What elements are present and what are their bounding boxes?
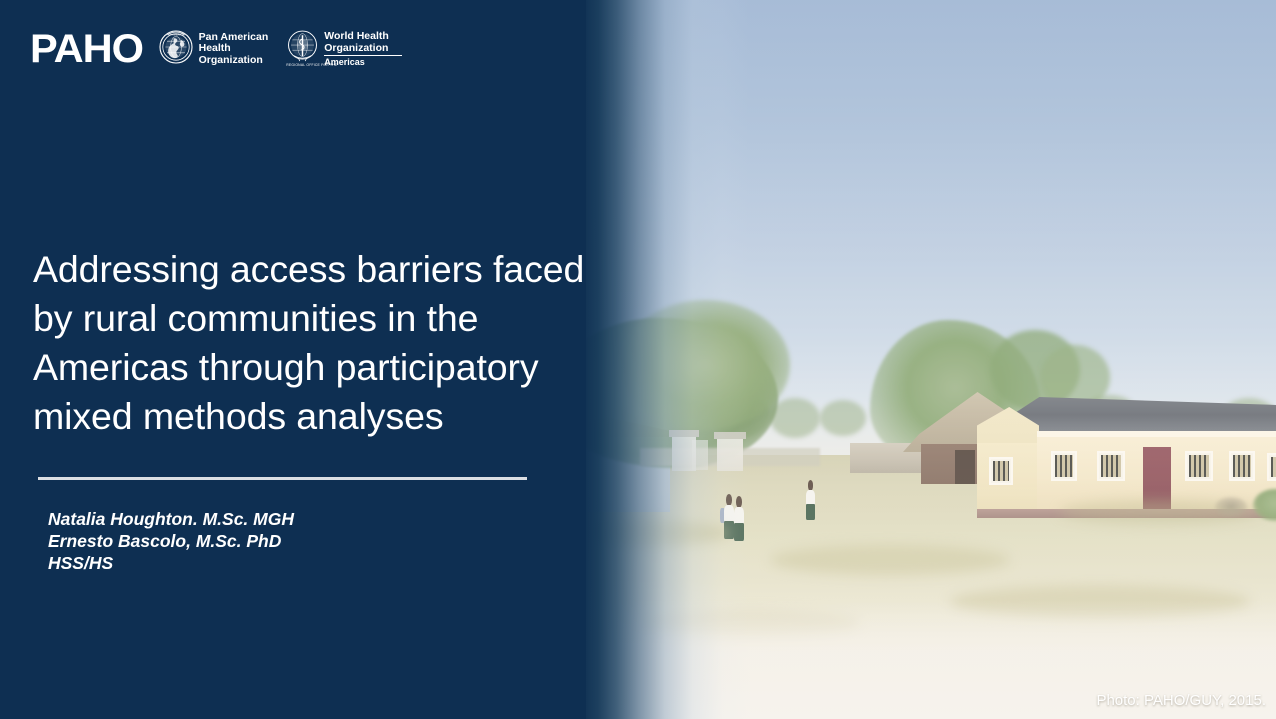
school-window <box>1051 451 1077 481</box>
child-walking <box>806 490 815 520</box>
paho-globe-emblem-icon: PAN AMERICAN <box>159 30 193 69</box>
paho-logo-text: Pan American Health Organization <box>199 32 269 67</box>
who-regional-office-label: REGIONAL OFFICE FOR THE <box>286 63 319 67</box>
title-line-4: mixed methods analyses <box>33 392 608 441</box>
school-window <box>1267 453 1276 481</box>
who-logo-line1: World Health <box>324 31 402 43</box>
school-eave <box>1037 431 1276 437</box>
distant-tree <box>820 400 866 436</box>
child-shirt <box>806 490 815 506</box>
who-logo-line2: Organization <box>324 43 402 55</box>
photo-credit: Photo: PAHO/GUY, 2015. <box>1096 692 1266 710</box>
who-snake-staff-emblem-icon: REGIONAL OFFICE FOR THE <box>286 30 319 68</box>
pan-american-health-organization-logo: PAN AMERICAN Pan American Health Organiz… <box>159 30 269 69</box>
school-window <box>989 457 1013 485</box>
background-photo <box>520 0 1276 719</box>
slide-title: Addressing access barriers faced by rura… <box>33 245 608 441</box>
presentation-slide: PAHO PAN AMERICAN Pan A <box>0 0 1276 719</box>
svg-text:PAN AMERICAN: PAN AMERICAN <box>166 33 185 36</box>
paho-wordmark: PAHO <box>30 29 143 69</box>
author-department: HSS/HS <box>48 552 294 574</box>
who-logo-text: World Health Organization Americas <box>324 31 402 67</box>
child-skirt <box>806 504 815 520</box>
title-line-3: Americas through participatory <box>33 343 608 392</box>
paho-logo-line3: Organization <box>199 55 269 67</box>
author-block: Natalia Houghton. M.Sc. MGH Ernesto Basc… <box>48 508 294 574</box>
author-name-2: Ernesto Bascolo, M.Sc. PhD <box>48 530 294 552</box>
title-line-2: by rural communities in the <box>33 294 608 343</box>
paho-who-logo: PAHO PAN AMERICAN Pan A <box>30 26 402 72</box>
title-line-1: Addressing access barriers faced <box>33 245 608 294</box>
school-building <box>957 385 1276 520</box>
school-window <box>1185 451 1213 481</box>
grass-patch <box>1060 500 1260 524</box>
school-window <box>1229 451 1255 481</box>
who-divider <box>324 55 402 56</box>
grass-patch <box>770 545 1010 575</box>
world-health-organization-logo: REGIONAL OFFICE FOR THE World Health Org… <box>286 30 402 68</box>
author-name-1: Natalia Houghton. M.Sc. MGH <box>48 508 294 530</box>
school-window <box>1097 451 1125 481</box>
title-divider <box>38 477 527 480</box>
